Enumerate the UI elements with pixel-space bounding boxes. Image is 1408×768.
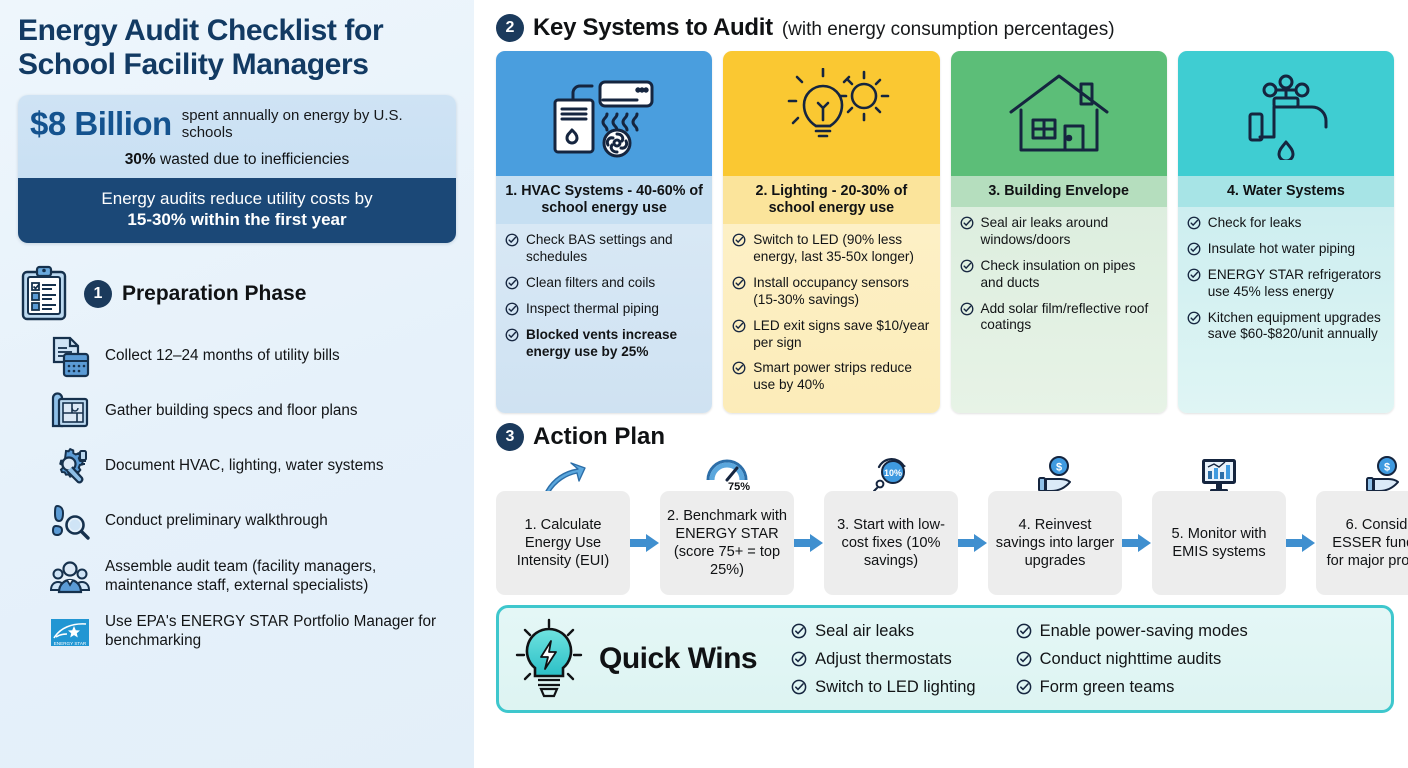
list-item-label: Assemble audit team (facility managers, … — [105, 558, 456, 595]
hand-coin-icon: $ — [1033, 455, 1077, 495]
quick-win-item: Conduct nighttime audits — [1016, 650, 1248, 669]
checklist-item: Seal air leaks around windows/doors — [960, 215, 1158, 249]
list-item: ENERGY STAR Use EPA's ENERGY STAR Portfo… — [48, 610, 456, 654]
checklist-label: Switch to LED (90% less energy, last 35-… — [753, 232, 930, 266]
stat-card: $8 Billion spent annually on energy by U… — [18, 95, 456, 243]
checklist-item: ENERGY STAR refrigerators use 45% less e… — [1187, 267, 1385, 301]
svg-text:ENERGY STAR: ENERGY STAR — [54, 641, 87, 646]
step-6[interactable]: 6. Consider ESSER funding for major proj… — [1316, 491, 1408, 595]
step-4-icon-area: $ — [1033, 453, 1077, 495]
system-card-lighting[interactable]: 2. Lighting - 20-30% of school energy us… — [723, 51, 939, 413]
check-circle-icon — [791, 679, 807, 695]
step-6-icon-area: $ — [1361, 453, 1405, 495]
step-arrow-4 — [1122, 491, 1152, 595]
footprints-magnifier-icon — [48, 500, 92, 544]
faucet-water-icon — [1230, 68, 1342, 160]
key-systems-header: 2 Key Systems to Audit (with energy cons… — [474, 0, 1408, 42]
stat-waste-line: 30% wasted due to inefficiencies — [30, 151, 444, 169]
check-circle-icon — [732, 319, 746, 333]
stat-banner-line2: 15-30% within the first year — [127, 210, 346, 229]
blueprint-icon — [48, 390, 92, 434]
step-arrow-3 — [958, 491, 988, 595]
checklist-label: LED exit signs save $10/year per sign — [753, 318, 930, 352]
svg-text:$: $ — [1056, 462, 1062, 474]
checklist-label: Seal air leaks around windows/doors — [981, 215, 1158, 249]
action-plan-header: 3 Action Plan — [474, 413, 1408, 451]
checklist-item: Kitchen equipment upgrades save $60-$820… — [1187, 310, 1385, 344]
checklist-item: Install occupancy sensors (15-30% saving… — [732, 275, 930, 309]
page-title: Energy Audit Checklist for School Facili… — [18, 14, 456, 81]
step-4[interactable]: 4. Reinvest savings into larger upgrades — [988, 491, 1122, 595]
checklist-item: Check insulation on pipes and ducts — [960, 258, 1158, 292]
check-circle-icon — [1016, 651, 1032, 667]
check-circle-icon — [791, 651, 807, 667]
checklist-label: Check BAS settings and schedules — [526, 232, 703, 266]
checklist-item: Blocked vents increase energy use by 25% — [505, 327, 703, 361]
step-5-wrap: 5. Monitor with EMIS systems — [1152, 453, 1286, 595]
quick-win-item: Form green teams — [1016, 678, 1248, 697]
list-item: Gather building specs and floor plans — [48, 390, 456, 434]
section-number-badge-1: 1 — [84, 280, 112, 308]
check-circle-icon — [505, 276, 519, 290]
quick-wins-box: Quick Wins Seal air leaks Adjust thermos… — [496, 605, 1394, 713]
check-circle-icon — [1187, 242, 1201, 256]
quick-win-label: Form green teams — [1040, 678, 1175, 697]
checklist-label: Clean filters and coils — [526, 275, 655, 292]
check-circle-icon — [505, 302, 519, 316]
hand-coin-icon: $ — [1361, 455, 1405, 495]
hvac-furnace-icon — [545, 68, 663, 160]
checklist-label: Install occupancy sensors (15-30% saving… — [753, 275, 930, 309]
quick-win-item: Seal air leaks — [791, 622, 976, 641]
right-panel: 2 Key Systems to Audit (with energy cons… — [474, 0, 1408, 768]
step-2-wrap: 75% 2. Benchmark with ENERGY STAR (score… — [660, 453, 794, 595]
checklist-item: LED exit signs save $10/year per sign — [732, 318, 930, 352]
list-item-label: Gather building specs and floor plans — [105, 402, 358, 421]
check-circle-icon — [1016, 623, 1032, 639]
card-image-water — [1178, 51, 1394, 176]
stat-waste-value: 30% — [125, 151, 156, 168]
monitor-chart-icon — [1197, 455, 1241, 495]
check-circle-icon — [1187, 311, 1201, 325]
checklist-item: Clean filters and coils — [505, 275, 703, 292]
list-item-label: Document HVAC, lighting, water systems — [105, 457, 384, 476]
card-header-envelope: 3. Building Envelope — [951, 176, 1167, 207]
quick-win-label: Switch to LED lighting — [815, 678, 976, 697]
team-people-icon — [48, 555, 92, 599]
energy-star-logo-icon: ENERGY STAR — [48, 610, 92, 654]
section-number-badge-2: 2 — [496, 14, 524, 42]
checklist-item: Check BAS settings and schedules — [505, 232, 703, 266]
system-card-hvac[interactable]: 1. HVAC Systems - 40-60% of school energ… — [496, 51, 712, 413]
arrow-right-icon — [1286, 533, 1316, 553]
percent-badge-icon: 10% — [869, 455, 913, 495]
checklist-item: Smart power strips reduce use by 40% — [732, 360, 930, 394]
step-3[interactable]: 3. Start with low-cost fixes (10% saving… — [824, 491, 958, 595]
quick-win-label: Conduct nighttime audits — [1040, 650, 1222, 669]
checklist-item: Check for leaks — [1187, 215, 1385, 232]
stat-subtext: spent annually on energy by U.S. schools — [182, 107, 444, 142]
check-circle-icon — [505, 233, 519, 247]
checklist-item: Inspect thermal piping — [505, 301, 703, 318]
card-image-lighting — [723, 51, 939, 176]
step-2[interactable]: 2. Benchmark with ENERGY STAR (score 75+… — [660, 491, 794, 595]
list-item: Assemble audit team (facility managers, … — [48, 555, 456, 599]
checklist-item: Insulate hot water piping — [1187, 241, 1385, 258]
arrow-right-icon — [630, 533, 660, 553]
system-card-envelope[interactable]: 3. Building Envelope Seal air leaks arou… — [951, 51, 1167, 413]
step-1-icon-area — [540, 453, 586, 495]
quick-wins-columns: Seal air leaks Adjust thermostats Switch… — [791, 622, 1248, 697]
check-circle-icon — [960, 302, 974, 316]
check-circle-icon — [1187, 216, 1201, 230]
gear-wrench-icon — [48, 445, 92, 489]
step-5[interactable]: 5. Monitor with EMIS systems — [1152, 491, 1286, 595]
step-2-icon-area: 75% — [704, 453, 750, 495]
key-systems-title: Key Systems to Audit — [533, 14, 773, 42]
checklist-label: Blocked vents increase energy use by 25% — [526, 327, 703, 361]
stat-banner-line1: Energy audits reduce utility costs by — [28, 188, 446, 209]
house-envelope-icon — [1003, 68, 1115, 160]
check-circle-icon — [1016, 679, 1032, 695]
step-arrow-5 — [1286, 491, 1316, 595]
quick-win-label: Enable power-saving modes — [1040, 622, 1248, 641]
check-circle-icon — [732, 233, 746, 247]
step-3-icon-label: 10% — [884, 468, 902, 478]
checklist-item: Switch to LED (90% less energy, last 35-… — [732, 232, 930, 266]
step-3-icon-area: 10% — [869, 453, 913, 495]
quick-win-item: Switch to LED lighting — [791, 678, 976, 697]
checklist-label: Check for leaks — [1208, 215, 1302, 232]
check-circle-icon — [791, 623, 807, 639]
left-panel: Energy Audit Checklist for School Facili… — [0, 0, 474, 768]
lightbulb-bolt-icon — [513, 617, 585, 701]
list-item: Conduct preliminary walkthrough — [48, 500, 456, 544]
check-circle-icon — [960, 216, 974, 230]
card-image-hvac — [496, 51, 712, 176]
preparation-items-list: Collect 12–24 months of utility bills Ga… — [18, 335, 456, 654]
step-3-wrap: 10% 3. Start with low-cost fixes (10% sa… — [824, 453, 958, 595]
quick-wins-col-1: Seal air leaks Adjust thermostats Switch… — [791, 622, 976, 697]
list-item-label: Collect 12–24 months of utility bills — [105, 347, 340, 366]
step-5-icon-area — [1197, 453, 1241, 495]
svg-text:$: $ — [1384, 462, 1390, 474]
step-6-wrap: $ 6. Consider ESSER funding for major pr… — [1316, 453, 1408, 595]
preparation-phase-header: 1 Preparation Phase — [18, 265, 456, 323]
step-arrow-1 — [630, 491, 660, 595]
lightbulb-sun-icon — [772, 68, 890, 160]
system-card-water[interactable]: 4. Water Systems Check for leaks Insulat… — [1178, 51, 1394, 413]
checklist-label: Smart power strips reduce use by 40% — [753, 360, 930, 394]
card-body-envelope: Seal air leaks around windows/doors Chec… — [951, 207, 1167, 413]
card-header-lighting: 2. Lighting - 20-30% of school energy us… — [723, 176, 939, 224]
step-1-wrap: 1. Calculate Energy Use Intensity (EUI) — [496, 453, 630, 595]
stat-top: $8 Billion spent annually on energy by U… — [18, 95, 456, 178]
arrow-up-right-icon — [540, 461, 586, 495]
card-body-water: Check for leaks Insulate hot water pipin… — [1178, 207, 1394, 413]
checklist-item: Add solar film/reflective roof coatings — [960, 301, 1158, 335]
stat-banner: Energy audits reduce utility costs by 15… — [18, 178, 456, 243]
clipboard-checklist-icon — [18, 265, 74, 323]
card-body-hvac: Check BAS settings and schedules Clean f… — [496, 224, 712, 413]
section-number-badge-3: 3 — [496, 423, 524, 451]
checklist-label: Inspect thermal piping — [526, 301, 659, 318]
preparation-phase-title: Preparation Phase — [122, 282, 306, 306]
action-plan-steps: 1. Calculate Energy Use Intensity (EUI) … — [474, 451, 1408, 595]
quick-wins-title: Quick Wins — [599, 642, 757, 676]
check-circle-icon — [732, 361, 746, 375]
check-circle-icon — [732, 276, 746, 290]
checklist-label: Insulate hot water piping — [1208, 241, 1355, 258]
system-cards: 1. HVAC Systems - 40-60% of school energ… — [474, 42, 1408, 413]
checklist-label: Check insulation on pipes and ducts — [981, 258, 1158, 292]
quick-win-label: Adjust thermostats — [815, 650, 952, 669]
arrow-right-icon — [958, 533, 988, 553]
quick-win-item: Adjust thermostats — [791, 650, 976, 669]
gauge-icon — [704, 456, 750, 482]
stat-waste-text: wasted due to inefficiencies — [156, 151, 350, 168]
arrow-right-icon — [794, 533, 824, 553]
quick-wins-col-2: Enable power-saving modes Conduct nightt… — [1016, 622, 1248, 697]
card-header-hvac: 1. HVAC Systems - 40-60% of school energ… — [496, 176, 712, 224]
checklist-label: Add solar film/reflective roof coatings — [981, 301, 1158, 335]
list-item: Collect 12–24 months of utility bills — [48, 335, 456, 379]
step-1[interactable]: 1. Calculate Energy Use Intensity (EUI) — [496, 491, 630, 595]
check-circle-icon — [505, 328, 519, 342]
check-circle-icon — [960, 259, 974, 273]
documents-calendar-icon — [48, 335, 92, 379]
card-body-lighting: Switch to LED (90% less energy, last 35-… — [723, 224, 939, 413]
list-item-label: Use EPA's ENERGY STAR Portfolio Manager … — [105, 613, 456, 650]
checklist-label: ENERGY STAR refrigerators use 45% less e… — [1208, 267, 1385, 301]
check-circle-icon — [1187, 268, 1201, 282]
checklist-label: Kitchen equipment upgrades save $60-$820… — [1208, 310, 1385, 344]
step-4-wrap: $ 4. Reinvest savings into larger upgrad… — [988, 453, 1122, 595]
key-systems-note: (with energy consumption percentages) — [782, 19, 1115, 41]
card-image-envelope — [951, 51, 1167, 176]
infographic-root: Energy Audit Checklist for School Facili… — [0, 0, 1408, 768]
card-header-water: 4. Water Systems — [1178, 176, 1394, 207]
quick-win-item: Enable power-saving modes — [1016, 622, 1248, 641]
arrow-right-icon — [1122, 533, 1152, 553]
stat-big-number: $8 Billion — [30, 105, 172, 143]
list-item: Document HVAC, lighting, water systems — [48, 445, 456, 489]
action-plan-title: Action Plan — [533, 423, 665, 451]
list-item-label: Conduct preliminary walkthrough — [105, 512, 328, 531]
step-arrow-2 — [794, 491, 824, 595]
quick-win-label: Seal air leaks — [815, 622, 914, 641]
